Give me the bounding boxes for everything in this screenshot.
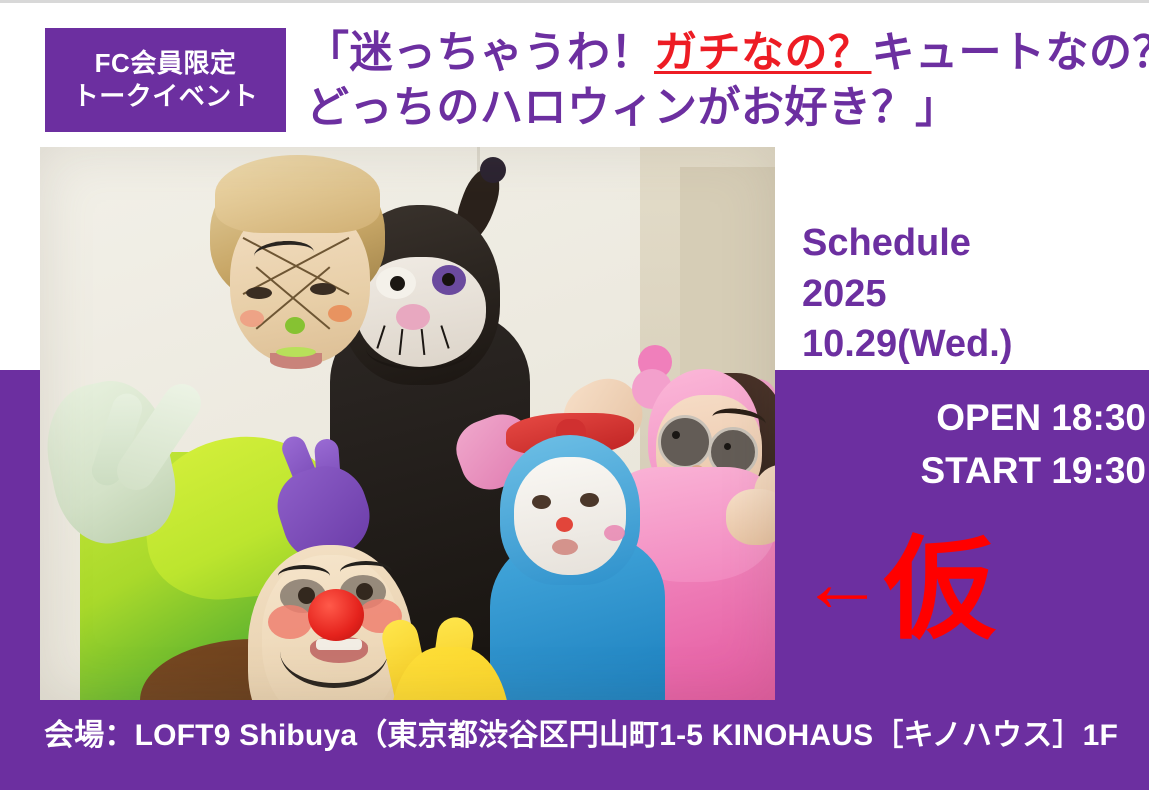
left-arrow-icon: ← [800,540,882,624]
venue-line: 会場：LOFT9 Shibuya（東京都渋谷区円山町1-5 KINOHAUS［キ… [44,718,1134,754]
schedule-heading: Schedule [802,218,1142,269]
title-segment-highlight: ガチなの？ [654,29,872,77]
title-segment-pre: 「迷っちゃうわ！ [306,29,654,77]
open-time: OPEN 18:30 [806,392,1146,445]
title-line-1: 「迷っちゃうわ！ガチなの？キュートなの？ [306,26,1142,81]
top-divider [0,0,1149,3]
schedule-block: Schedule 2025 10.29(Wed.) [802,218,1142,370]
event-title: 「迷っちゃうわ！ガチなの？キュートなの？ どっちのハロウィンがお好き？」 [306,26,1142,136]
fc-members-badge: FC会員限定 トークイベント [45,28,286,132]
schedule-year: 2025 [802,269,1142,320]
title-line-2: どっちのハロウィンがお好き？」 [306,81,1142,136]
start-time: START 19:30 [806,445,1146,498]
tentative-label: 仮 [884,534,994,646]
photo-vignette [40,147,775,700]
event-flyer: FC会員限定 トークイベント 「迷っちゃうわ！ガチなの？キュートなの？ どっちの… [0,0,1149,790]
title-segment-post: キュートなの？ [872,29,1149,77]
schedule-date: 10.29(Wed.) [802,319,1142,370]
badge-line-1: FC会員限定 [95,48,237,79]
event-photo [40,147,775,700]
badge-line-2: トークイベント [73,81,259,112]
tentative-annotation: ← 仮 [800,530,1050,650]
show-times: OPEN 18:30 START 19:30 [806,392,1149,497]
